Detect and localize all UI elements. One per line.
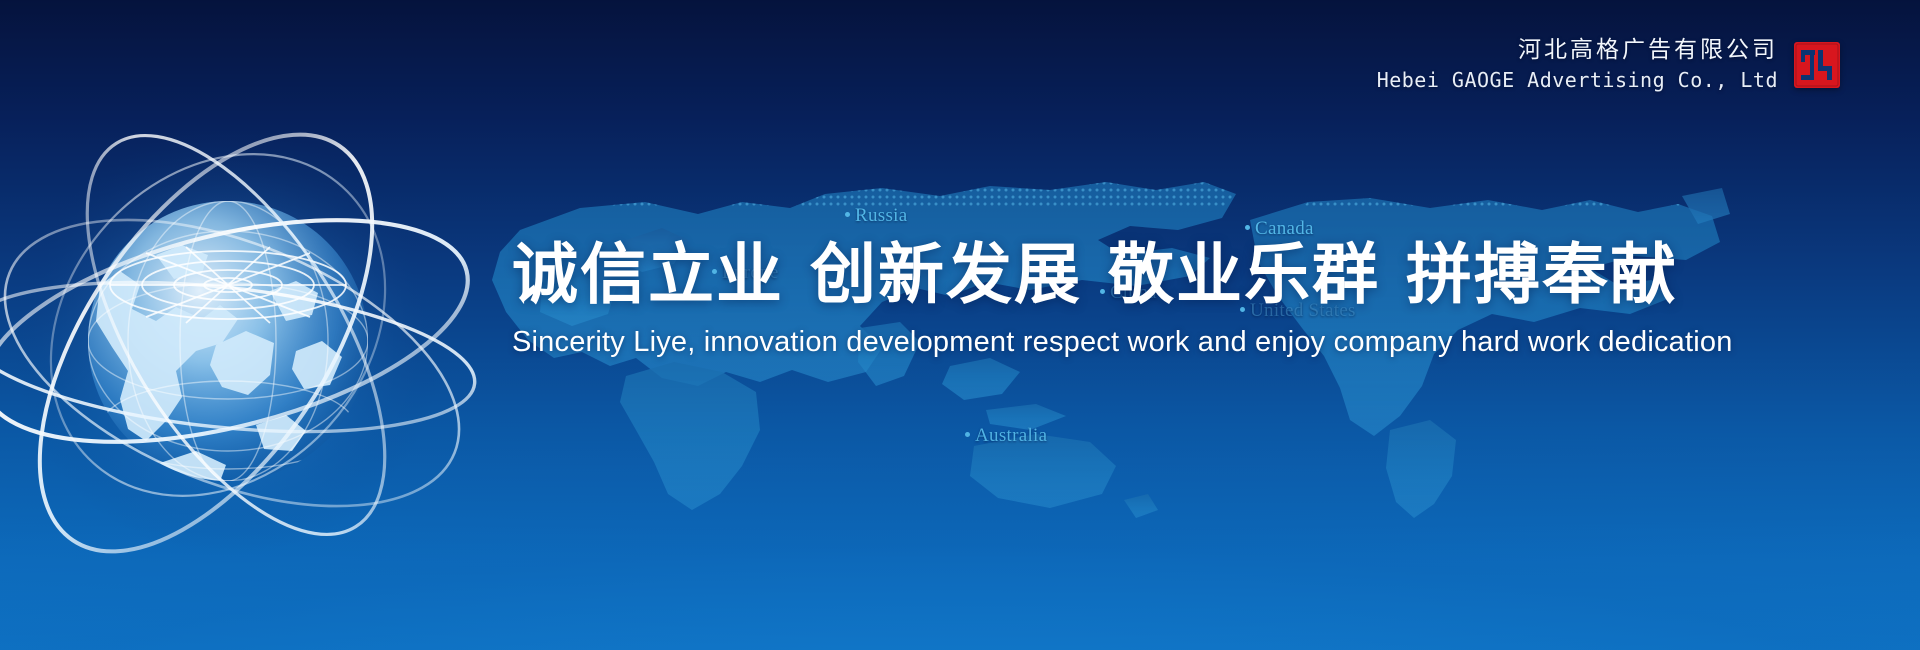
slogan-chinese: 诚信立业创新发展敬业乐群拼搏奉献	[512, 240, 1832, 309]
slogan-part-1: 诚信立业	[512, 236, 784, 313]
slogan-part-2: 创新发展	[810, 236, 1082, 313]
gaoge-logo-icon	[1794, 42, 1840, 88]
slogan-english: Sincerity Liye, innovation development r…	[512, 326, 1832, 359]
company-name-block: 河北高格广告有限公司 Hebei GAOGE Advertising Co., …	[1377, 36, 1778, 94]
map-pin-dot	[965, 432, 970, 437]
slogan-block: 诚信立业创新发展敬业乐群拼搏奉献 Sincerity Liye, innovat…	[512, 240, 1832, 359]
map-label-russia: Russia	[845, 205, 907, 227]
slogan-part-3: 敬业乐群	[1108, 236, 1380, 313]
company-banner: Russia Canada Australia Europe China Uni…	[0, 0, 1920, 650]
map-label-australia: Australia	[965, 425, 1047, 447]
map-pin-dot	[845, 212, 850, 217]
company-name-cn: 河北高格广告有限公司	[1377, 36, 1778, 65]
company-identity: 河北高格广告有限公司 Hebei GAOGE Advertising Co., …	[1377, 36, 1840, 94]
globe-orbit-graphic	[0, 95, 490, 565]
map-pin-dot	[1245, 225, 1250, 230]
company-name-en: Hebei GAOGE Advertising Co., Ltd	[1377, 67, 1778, 94]
slogan-part-4: 拼搏奉献	[1406, 236, 1678, 313]
